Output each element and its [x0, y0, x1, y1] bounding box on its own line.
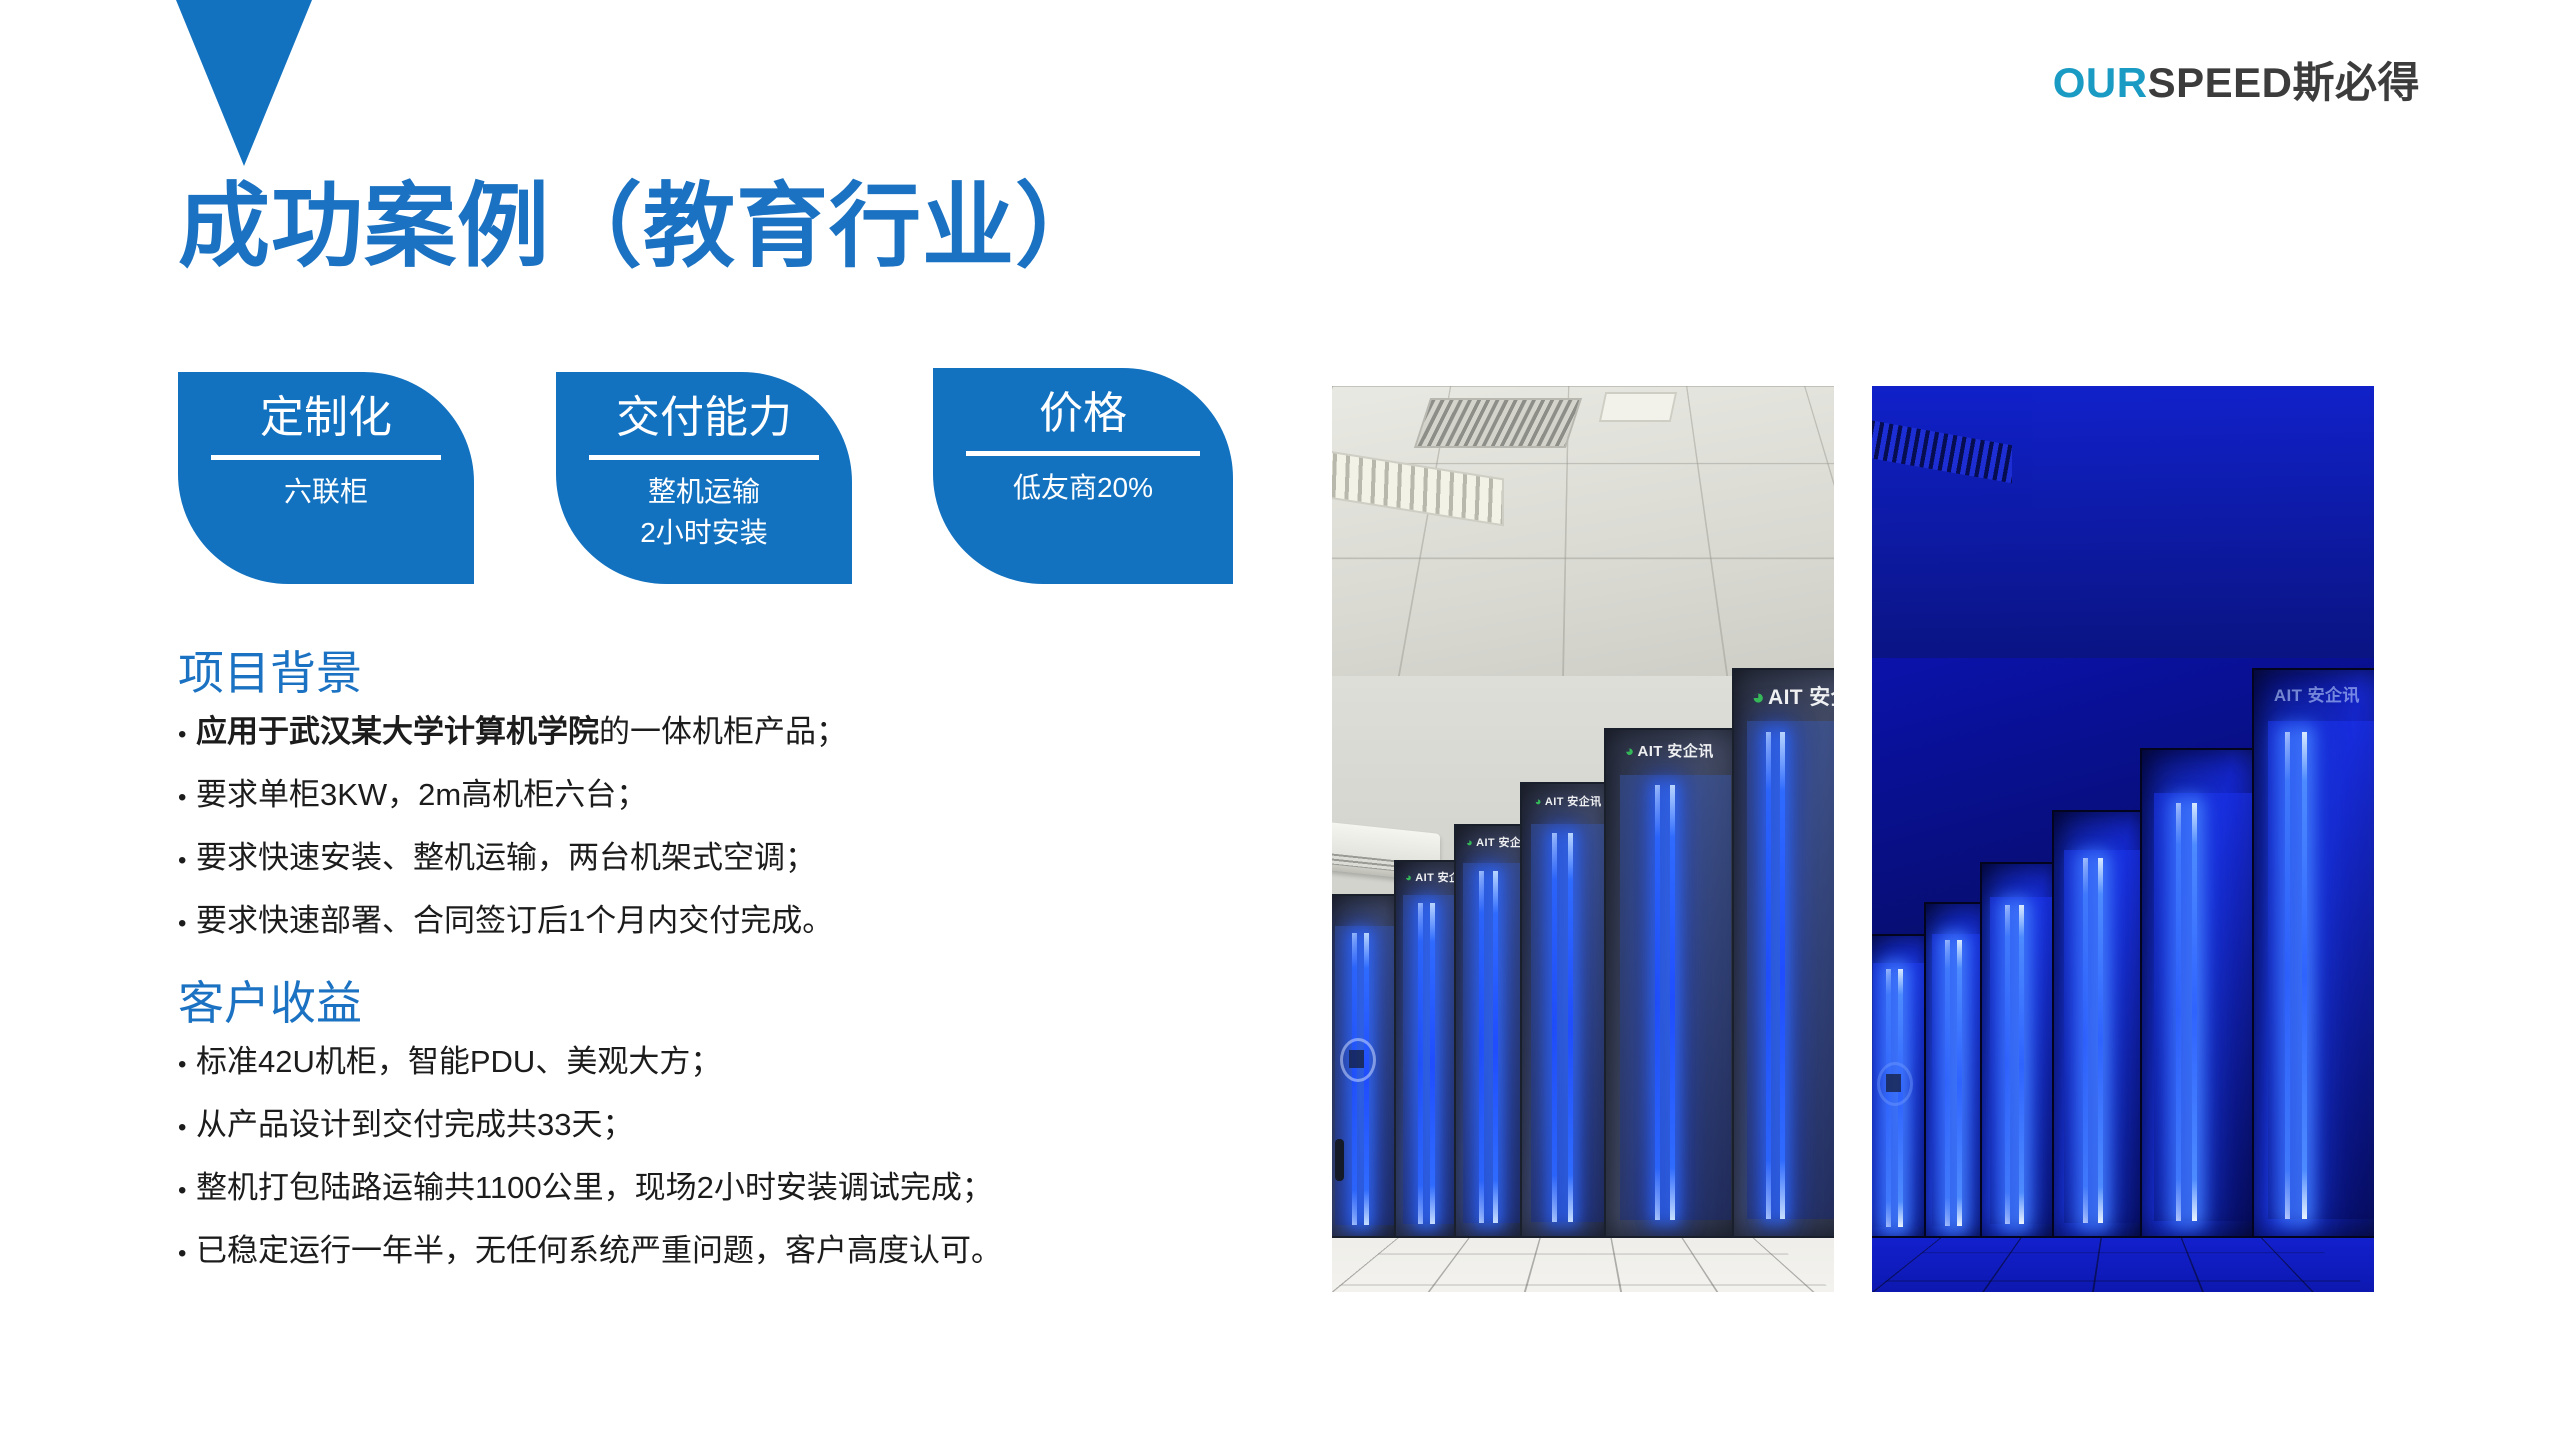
- brand-logo: OURSPEED斯必得: [2053, 62, 2420, 104]
- badge-divider: [966, 451, 1200, 456]
- ait-logo-icon: ◕: [1625, 743, 1634, 760]
- list-item: • 标准42U机柜，智能PDU、美观大方；: [178, 1043, 1188, 1080]
- rack-led-strip: [2083, 858, 2088, 1223]
- server-rack: ◕AIT 安企讯: [1520, 782, 1616, 1238]
- photo-content: ◕AIT 安企讯 ◕AIT 安企讯 ◕AIT 安企讯 ◕AIT 安企讯: [1332, 386, 1834, 1292]
- section-project-background: 项目背景 • 应用于武汉某大学计算机学院的一体机柜产品； • 要求单柜3KW，2…: [178, 645, 1188, 965]
- rack-led-strip: [2176, 803, 2181, 1221]
- rack-control-panel-icon: [1877, 1062, 1913, 1106]
- badge-subtitle-line: 整机运输: [556, 472, 852, 513]
- section-heading: 客户收益: [178, 975, 1188, 1033]
- rack-led-strip: [1945, 940, 1950, 1226]
- rack-led-strip: [1418, 903, 1423, 1225]
- rack-control-panel-icon: [1340, 1038, 1376, 1082]
- list-item-rest: 的一体机柜产品；: [599, 714, 847, 749]
- badge-group: 定制化 六联柜 交付能力 整机运输 2小时安装 价格 低友商20%: [178, 368, 1278, 598]
- rack-led-strip: [2098, 858, 2103, 1223]
- ait-logo-icon: ◕: [1466, 837, 1473, 849]
- decorative-triangle: [176, 0, 312, 166]
- badge-divider: [589, 455, 820, 460]
- rack-brand-text: AIT 安企讯: [1545, 796, 1602, 808]
- server-rack: AIT 安企讯: [2252, 668, 2374, 1238]
- badge-title: 价格: [933, 386, 1233, 441]
- list-item-text: 从产品设计到交付完成共33天；: [196, 1106, 1188, 1143]
- list-item-text: 标准42U机柜，智能PDU、美观大方；: [196, 1043, 1188, 1080]
- ceiling-vent-icon: [1872, 419, 2012, 483]
- list-item: • 要求快速安装、整机运输，两台机架式空调；: [178, 839, 1188, 876]
- rack-glass-door: [1747, 721, 1834, 1219]
- badge-delivery[interactable]: 交付能力 整机运输 2小时安装: [556, 372, 852, 584]
- ceiling-vent-icon: [1414, 398, 1582, 448]
- photo-content: AIT 安企讯: [1872, 386, 2374, 1292]
- rack-led-strip: [1766, 732, 1771, 1219]
- rack-brand-label: ◕AIT 安企讯: [1535, 793, 1602, 809]
- rack-led-strip: [2302, 732, 2307, 1219]
- rack-brand-text: AIT 安企讯: [1638, 743, 1714, 760]
- server-rack: ◕AIT 安企讯: [1604, 728, 1744, 1238]
- list-item-text: 应用于武汉某大学计算机学院的一体机柜产品；: [196, 713, 1188, 750]
- rack-led-strip: [2005, 905, 2010, 1225]
- rack-brand-text: AIT 安企讯: [1768, 686, 1834, 709]
- server-rack: [1980, 862, 2062, 1238]
- rack-brand-label: ◕AIT 安企讯: [1752, 681, 1834, 711]
- rack-glass-door: [2268, 721, 2374, 1219]
- section-heading: 项目背景: [178, 645, 1188, 703]
- list-item: • 从产品设计到交付完成共33天；: [178, 1106, 1188, 1143]
- bullet-list: • 应用于武汉某大学计算机学院的一体机柜产品； • 要求单柜3KW，2m高机柜六…: [178, 713, 1188, 940]
- ait-logo-icon: ◕: [1752, 686, 1765, 709]
- bullet-dot-icon: •: [178, 1242, 196, 1266]
- list-item-emphasis: 应用于武汉某大学计算机学院: [196, 714, 599, 749]
- rack-led-strip: [2192, 803, 2197, 1221]
- page-title: 成功案例（教育行业）: [178, 175, 1108, 281]
- bullet-dot-icon: •: [178, 1179, 196, 1203]
- rack-led-strip: [1780, 732, 1785, 1219]
- rack-led-strip: [1552, 833, 1557, 1222]
- rack-door-handle: [1335, 1139, 1344, 1181]
- floor-tile-grid: [1872, 1232, 2374, 1292]
- rack-brand-text: AIT 安企讯: [2274, 686, 2360, 705]
- list-item-text: 已稳定运行一年半，无任何系统严重问题，客户高度认可。: [196, 1232, 1188, 1269]
- server-rack: [2052, 810, 2152, 1238]
- bullet-dot-icon: •: [178, 723, 196, 747]
- badge-subtitle-line: 低友商20%: [933, 468, 1233, 509]
- rack-led-strip: [1670, 785, 1675, 1220]
- bullet-dot-icon: •: [178, 786, 196, 810]
- server-rack: [1332, 894, 1402, 1238]
- rack-led-strip: [2285, 732, 2290, 1219]
- brand-logo-prefix: OUR: [2053, 59, 2148, 106]
- photo-server-room-lit: ◕AIT 安企讯 ◕AIT 安企讯 ◕AIT 安企讯 ◕AIT 安企讯: [1332, 386, 1834, 1292]
- list-item: • 应用于武汉某大学计算机学院的一体机柜产品；: [178, 713, 1188, 750]
- badge-title: 交付能力: [556, 390, 852, 445]
- brand-logo-suffix: SPEED斯必得: [2148, 59, 2420, 106]
- rack-brand-label: ◕AIT 安企讯: [1625, 740, 1714, 761]
- rack-led-strip: [1479, 871, 1484, 1224]
- server-rack: ◕AIT 安企讯: [1732, 668, 1834, 1238]
- rack-brand-label: AIT 安企讯: [2274, 681, 2360, 706]
- bullet-dot-icon: •: [178, 1053, 196, 1077]
- list-item-text: 要求单柜3KW，2m高机柜六台；: [196, 776, 1188, 813]
- list-item-text: 要求快速部署、合同签订后1个月内交付完成。: [196, 902, 1188, 939]
- bullet-dot-icon: •: [178, 849, 196, 873]
- list-item-text: 整机打包陆路运输共1100公里，现场2小时安装调试完成；: [196, 1169, 1188, 1206]
- server-rack: ◕AIT 安企讯: [1454, 824, 1530, 1238]
- rack-led-strip: [2019, 905, 2024, 1225]
- rack-led-strip: [1568, 833, 1573, 1222]
- bullet-dot-icon: •: [178, 912, 196, 936]
- list-item: • 整机打包陆路运输共1100公里，现场2小时安装调试完成；: [178, 1169, 1188, 1206]
- badge-customization[interactable]: 定制化 六联柜: [178, 372, 474, 584]
- rack-led-strip: [1655, 785, 1660, 1220]
- section-customer-benefits: 客户收益 • 标准42U机柜，智能PDU、美观大方； • 从产品设计到交付完成共…: [178, 975, 1188, 1295]
- list-item-text: 要求快速安装、整机运输，两台机架式空调；: [196, 839, 1188, 876]
- list-item: • 要求单柜3KW，2m高机柜六台；: [178, 776, 1188, 813]
- bullet-list: • 标准42U机柜，智能PDU、美观大方； • 从产品设计到交付完成共33天； …: [178, 1043, 1188, 1270]
- slide-canvas: OURSPEED斯必得 成功案例（教育行业） 定制化 六联柜 交付能力 整机运输…: [0, 0, 2560, 1440]
- ceiling: [1872, 386, 2374, 658]
- list-item: • 要求快速部署、合同签订后1个月内交付完成。: [178, 902, 1188, 939]
- badge-divider: [211, 455, 442, 460]
- server-rack: [2140, 748, 2264, 1238]
- badge-subtitle-line: 2小时安装: [556, 513, 852, 554]
- photo-server-room-blue: AIT 安企讯: [1872, 386, 2374, 1292]
- bullet-dot-icon: •: [178, 1116, 196, 1140]
- rack-glass-door: [2154, 793, 2252, 1221]
- ait-logo-icon: ◕: [1405, 872, 1412, 884]
- badge-title: 定制化: [178, 390, 474, 445]
- rack-led-strip: [1493, 871, 1498, 1224]
- ait-logo-icon: ◕: [1535, 796, 1542, 808]
- badge-subtitle-line: 六联柜: [178, 472, 474, 513]
- badge-price[interactable]: 价格 低友商20%: [933, 368, 1233, 584]
- ceiling-vent-secondary-icon: [1599, 392, 1677, 422]
- list-item: • 已稳定运行一年半，无任何系统严重问题，客户高度认可。: [178, 1232, 1188, 1269]
- rack-led-strip: [1430, 903, 1435, 1225]
- rack-glass-door: [1620, 775, 1732, 1220]
- rack-led-strip: [1957, 940, 1962, 1226]
